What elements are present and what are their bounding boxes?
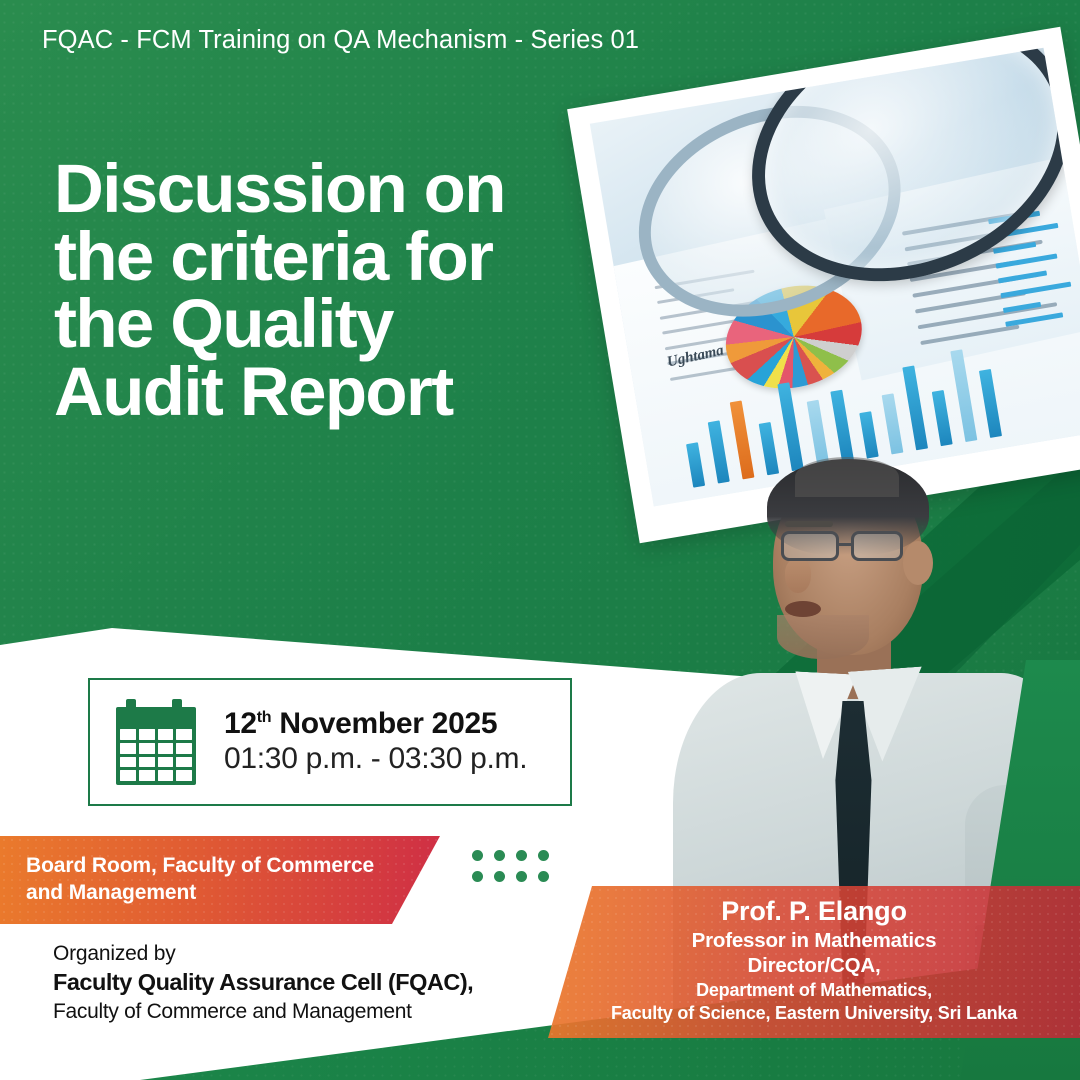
calendar-icon [110, 699, 202, 785]
decorative-dot-grid [472, 850, 549, 882]
organizer-name: Faculty Quality Assurance Cell (FQAC), [53, 969, 473, 996]
speaker-role: Professor in Mathematics [548, 929, 1080, 953]
venue-text: Board Room, Faculty of Commerce and Mana… [26, 853, 394, 907]
event-day: 12 [224, 707, 257, 740]
speaker-director-title: Director/CQA, [548, 954, 1080, 978]
speaker-faculty: Faculty of Science, Eastern University, … [548, 1003, 1080, 1024]
datetime-text: 12th November 2025 01:30 p.m. - 03:30 p.… [224, 707, 527, 777]
event-day-suffix: th [257, 709, 272, 726]
speaker-mouth [785, 601, 821, 617]
speaker-chin [777, 615, 869, 659]
speaker-department: Department of Mathematics, [548, 980, 1080, 1001]
venue-banner: Board Room, Faculty of Commerce and Mana… [0, 836, 440, 924]
datetime-box: 12th November 2025 01:30 p.m. - 03:30 p.… [88, 678, 572, 806]
poster-canvas: FQAC - FCM Training on QA Mechanism - Se… [0, 0, 1080, 1080]
page-title: Discussion on the criteria for the Quali… [54, 155, 554, 425]
organizer-block: Organized by Faculty Quality Assurance C… [53, 942, 473, 1024]
speaker-name: Prof. P. Elango [548, 896, 1080, 927]
speaker-hair-highlight [795, 457, 899, 497]
speaker-info-panel: Prof. P. Elango Professor in Mathematics… [548, 886, 1080, 1038]
organizer-faculty: Faculty of Commerce and Management [53, 1000, 473, 1024]
speaker-eyebrow [785, 521, 833, 527]
chart-photo-image: Ughtama [590, 48, 1080, 507]
event-date: 12th November 2025 [224, 707, 527, 742]
speaker-nose [785, 559, 811, 593]
event-time: 01:30 p.m. - 03:30 p.m. [224, 742, 527, 777]
event-series-header: FQAC - FCM Training on QA Mechanism - Se… [42, 26, 639, 55]
eyeglasses-icon [781, 531, 921, 561]
organizer-prefix: Organized by [53, 942, 473, 966]
event-month-year: November 2025 [271, 707, 497, 740]
